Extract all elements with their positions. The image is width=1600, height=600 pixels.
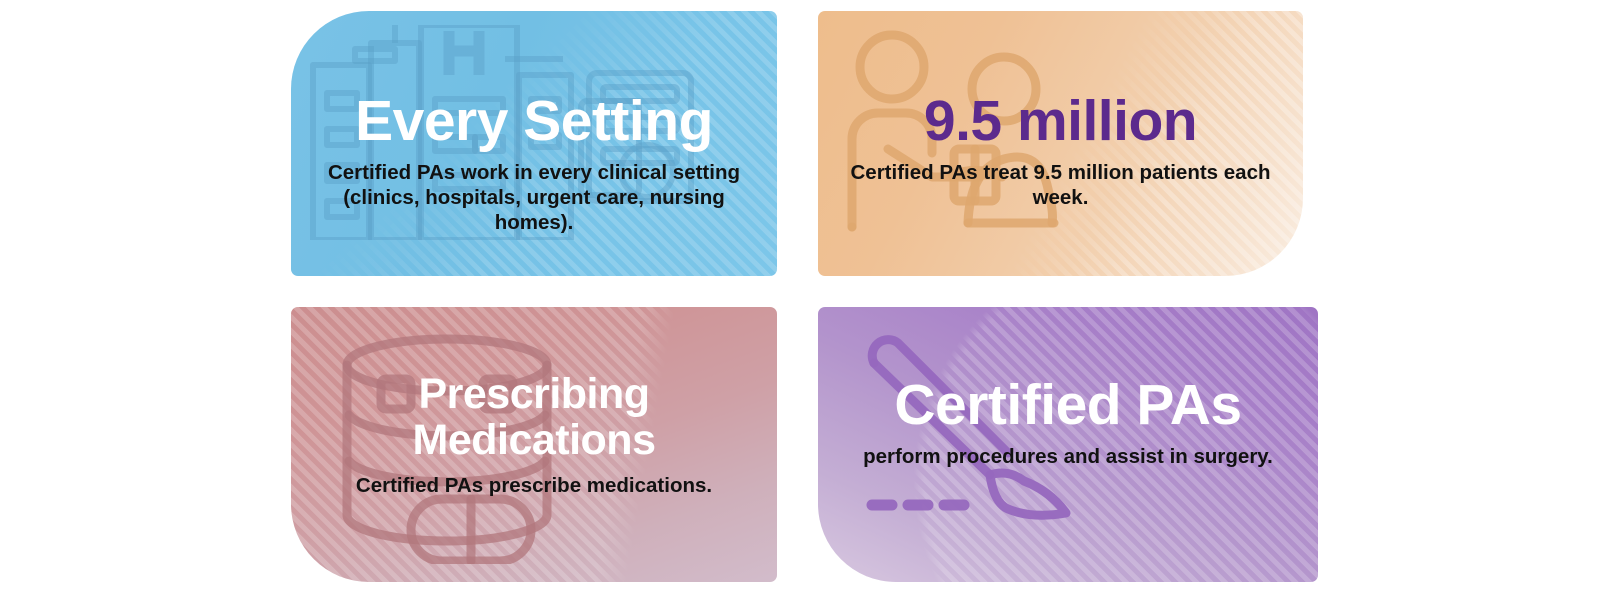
card-body-text: Certified PAs prescribe medications. [309,473,759,498]
card-text-block: 9.5 million Certified PAs treat 9.5 mill… [818,93,1303,210]
card-text-block: Every Setting Certified PAs work in ever… [291,93,777,235]
infographic-canvas: Every Setting Certified PAs work in ever… [0,0,1600,600]
card-headline: 9.5 million [836,93,1285,150]
card-prescribing-medications[interactable]: Prescribing Medications Certified PAs pr… [291,307,777,582]
card-every-setting[interactable]: Every Setting Certified PAs work in ever… [291,11,777,276]
card-text-block: Certified PAs perform procedures and ass… [818,377,1318,469]
card-95-million[interactable]: 9.5 million Certified PAs treat 9.5 mill… [818,11,1303,276]
card-headline: Every Setting [309,93,759,150]
card-body-text: perform procedures and assist in surgery… [836,444,1300,469]
card-body-text: Certified PAs work in every clinical set… [309,160,759,235]
card-body-text: Certified PAs treat 9.5 million patients… [836,160,1285,210]
card-text-block: Prescribing Medications Certified PAs pr… [291,372,777,498]
card-headline: Prescribing Medications [309,372,759,463]
card-headline: Certified PAs [836,377,1300,434]
card-certified-pas[interactable]: Certified PAs perform procedures and ass… [818,307,1318,582]
